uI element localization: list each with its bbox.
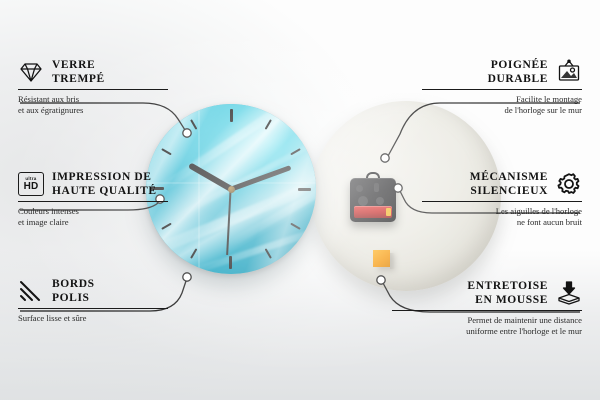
foam-spacer — [373, 250, 390, 267]
callout-poignee-durable: POIGNÉEDURABLE Facilite le montagede l'h… — [422, 58, 582, 116]
quartz-movement — [350, 178, 396, 222]
callout-impression-haute-qualite: ultra HD IMPRESSION DEHAUTE QUALITÉ Coul… — [18, 170, 168, 228]
callout-header: MÉCANISMESILENCIEUX — [422, 170, 582, 198]
gear-icon — [556, 171, 582, 197]
clock-tick — [230, 109, 232, 189]
callout-header: POIGNÉEDURABLE — [422, 58, 582, 86]
callout-subtitle: Résistant aux briset aux égratignures — [18, 94, 168, 116]
callout-entretoise-en-mousse: ENTRETOISEEN MOUSSE Permet de maintenir … — [392, 279, 582, 337]
callout-subtitle: Surface lisse et sûre — [18, 313, 168, 324]
callout-title: VERRETREMPÉ — [52, 58, 105, 86]
callout-title: MÉCANISMESILENCIEUX — [470, 170, 548, 198]
callout-verre-trempe: VERRETREMPÉ Résistant aux briset aux égr… — [18, 58, 168, 116]
callout-title: IMPRESSION DEHAUTE QUALITÉ — [52, 170, 157, 198]
callout-header: BORDSPOLIS — [18, 277, 168, 305]
callout-title: BORDSPOLIS — [52, 277, 95, 305]
callout-rule — [392, 310, 582, 311]
callout-subtitle: Couleurs intenseset image claire — [18, 206, 168, 228]
picture-frame-hook-icon — [556, 59, 582, 85]
callout-rule — [18, 89, 168, 90]
polished-edge-lines-icon — [18, 278, 44, 304]
clock-center-cap — [228, 186, 235, 193]
aa-battery — [354, 206, 392, 218]
callout-header: ENTRETOISEEN MOUSSE — [392, 279, 582, 307]
callout-subtitle: Facilite le montagede l'horloge sur le m… — [422, 94, 582, 116]
callout-header: VERRETREMPÉ — [18, 58, 168, 86]
diamond-icon — [18, 59, 44, 85]
clock-front-face — [146, 104, 316, 274]
callout-rule — [18, 308, 168, 309]
callout-mecanisme-silencieux: MÉCANISMESILENCIEUX Les aiguilles de l'h… — [422, 170, 582, 228]
callout-subtitle: Permet de maintenir une distanceuniforme… — [392, 315, 582, 337]
callout-rule — [422, 89, 582, 90]
movement-housing — [350, 178, 396, 222]
clock-tick — [231, 188, 311, 190]
callout-title: POIGNÉEDURABLE — [488, 58, 548, 86]
callout-rule — [18, 201, 168, 202]
callout-rule — [422, 201, 582, 202]
ultra-hd-badge-icon: ultra HD — [18, 172, 44, 196]
callout-subtitle: Les aiguilles de l'horlogene font aucun … — [422, 206, 582, 228]
callout-title: ENTRETOISEEN MOUSSE — [467, 279, 548, 307]
callout-header: ultra HD IMPRESSION DEHAUTE QUALITÉ — [18, 170, 168, 198]
infographic-canvas: VERRETREMPÉ Résistant aux briset aux égr… — [0, 0, 600, 400]
callout-bords-polis: BORDSPOLIS Surface lisse et sûre — [18, 277, 168, 324]
arrow-on-foam-pad-icon — [556, 280, 582, 306]
